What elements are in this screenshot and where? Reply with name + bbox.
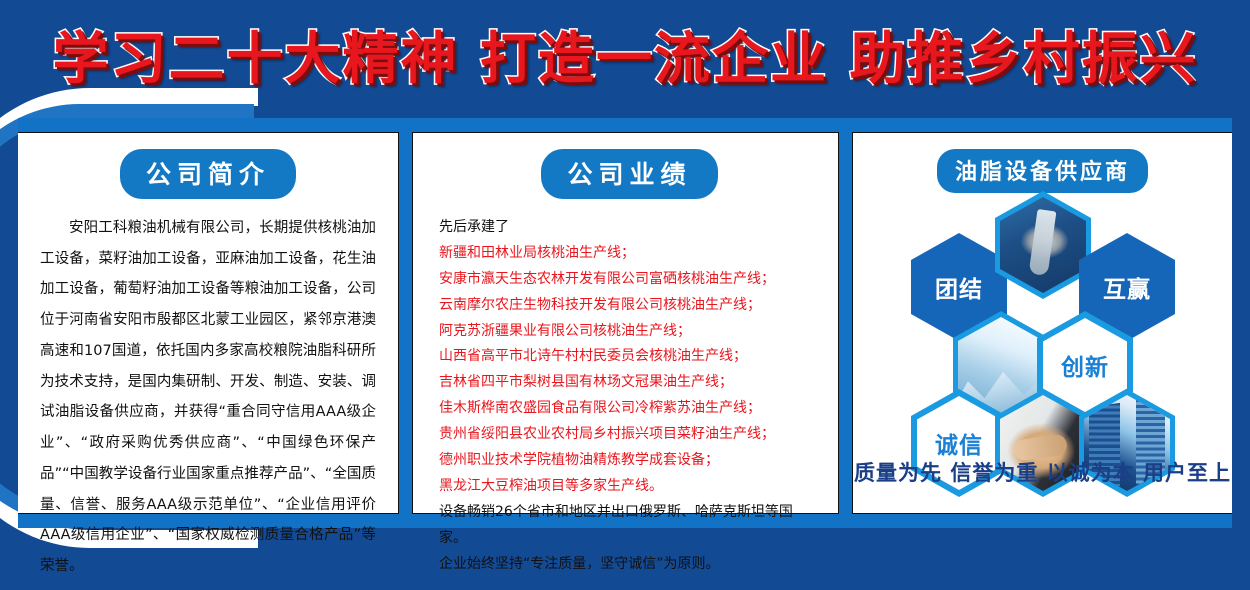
hexagon-aircraft-carrier — [995, 191, 1091, 299]
list-item: 安康市瀛天生态农林开发有限公司富硒核桃油生产线； — [439, 267, 820, 293]
panel-supplier: 油脂设备供应商 团结 互赢 — [852, 132, 1232, 514]
hexagon-tuanjie-label: 团结 — [935, 270, 983, 304]
footer-line: 设备畅销26个省市和地区并出口俄罗斯、哈萨克斯坦等国家。 — [439, 500, 820, 552]
list-item: 德州职业技术学院植物油精炼教学成套设备； — [439, 448, 820, 474]
company-performance-header: 公司业绩 — [541, 149, 717, 199]
list-item: 云南摩尔农庄生物科技开发有限公司核桃油生产线； — [439, 293, 820, 319]
performance-lead: 先后承建了 — [439, 215, 820, 241]
stage-top-bar — [18, 118, 1232, 132]
supplier-wrapper: 油脂设备供应商 团结 互赢 — [853, 133, 1232, 513]
content-stage: 公司简介 安阳工科粮油机械有限公司，长期提供核桃油加工设备，菜籽油加工设备，亚麻… — [18, 118, 1232, 528]
panel-company-performance: 公司业绩 先后承建了 新疆和田林业局核桃油生产线；安康市瀛天生态农林开发有限公司… — [412, 132, 839, 514]
banner-header: 学习二十大精神 打造一流企业 助推乡村振兴 — [0, 0, 1250, 108]
aircraft-carrier-icon — [1000, 197, 1086, 293]
panel-company-profile: 公司简介 安阳工科粮油机械有限公司，长期提供核桃油加工设备，菜籽油加工设备，亚麻… — [18, 132, 399, 514]
list-item: 黑龙江大豆榨油项目等多家生产线。 — [439, 474, 820, 500]
hexagon-cluster: 团结 互赢 创新 — [853, 199, 1233, 449]
list-item: 山西省高平市北诗午村村民委员会核桃油生产线； — [439, 344, 820, 370]
panel-divider-left — [398, 118, 412, 528]
list-item: 吉林省四平市梨树县国有林场文冠果油生产线； — [439, 370, 820, 396]
supplier-header: 油脂设备供应商 — [937, 149, 1148, 193]
performance-wrapper: 公司业绩 先后承建了 新疆和田林业局核桃油生产线；安康市瀛天生态农林开发有限公司… — [413, 133, 838, 577]
hexagon-chuangxin-label: 创新 — [1061, 348, 1109, 382]
panel-divider-right — [838, 118, 852, 528]
performance-footer: 设备畅销26个省市和地区并出口俄罗斯、哈萨克斯坦等国家。企业始终坚持“专注质量，… — [439, 500, 820, 578]
supplier-slogan: 质量为先 信誉为重 以诚为本 用户至上 — [853, 457, 1232, 487]
list-item: 贵州省绥阳县农业农村局乡村振兴项目菜籽油生产线； — [439, 422, 820, 448]
performance-project-list: 新疆和田林业局核桃油生产线；安康市瀛天生态农林开发有限公司富硒核桃油生产线；云南… — [439, 241, 820, 500]
poster-board: 学习二十大精神 打造一流企业 助推乡村振兴 公司简介 安阳工科粮油机械有限公司，… — [0, 0, 1250, 590]
footer-line: 企业始终坚持“专注质量，坚守诚信”为原则。 — [439, 552, 820, 578]
list-item: 阿克苏浙疆果业有限公司核桃油生产线； — [439, 319, 820, 345]
profile-wrapper: 公司简介 安阳工科粮油机械有限公司，长期提供核桃油加工设备，菜籽油加工设备，亚麻… — [18, 133, 398, 582]
list-item: 新疆和田林业局核桃油生产线； — [439, 241, 820, 267]
company-profile-header: 公司简介 — [120, 149, 296, 199]
company-profile-body: 安阳工科粮油机械有限公司，长期提供核桃油加工设备，菜籽油加工设备，亚麻油加工设备… — [40, 213, 376, 582]
banner-title: 学习二十大精神 打造一流企业 助推乡村振兴 — [53, 14, 1198, 95]
list-item: 佳木斯桦南农盛园食品有限公司冷榨紫苏油生产线； — [439, 396, 820, 422]
hexagon-chengxin-label: 诚信 — [935, 426, 983, 460]
hexagon-huying-label: 互赢 — [1103, 270, 1151, 304]
